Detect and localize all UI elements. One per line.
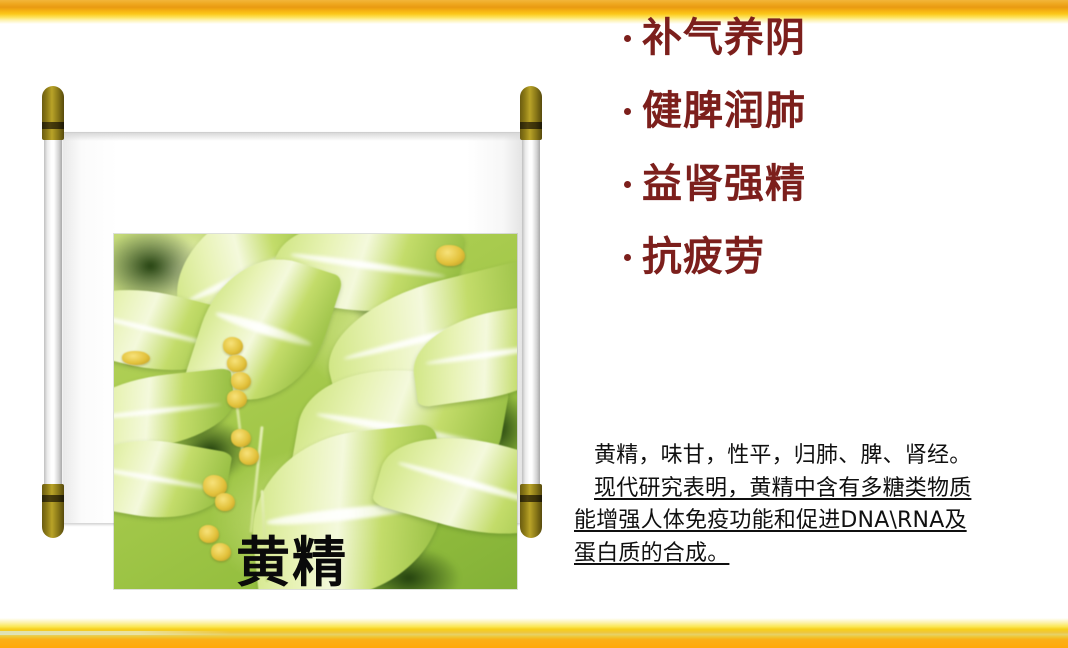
rod-band-top xyxy=(520,122,542,129)
bullet-dot-icon xyxy=(624,108,631,115)
scroll-rod-right xyxy=(516,86,546,538)
bullet-dot-icon xyxy=(624,254,631,261)
bullet-item-0: 补气养阴 xyxy=(624,18,1054,58)
rod-band-top xyxy=(42,122,64,129)
description-line-2: 能增强人体免疫功能和促进DNA\RNA及 xyxy=(574,505,1044,538)
scroll-rod-left xyxy=(38,86,68,538)
rod-cap-top xyxy=(42,86,64,140)
description-line-3: 蛋白质的合成。 xyxy=(574,538,1044,571)
bullet-label: 补气养阴 xyxy=(642,18,806,58)
bullet-label: 抗疲劳 xyxy=(642,237,765,277)
description-paragraph: 黄精，味甘，性平，归肺、脾、肾经。 现代研究表明，黄精中含有多糖类物质 能增强人… xyxy=(574,440,1044,570)
leaf-vein xyxy=(114,402,222,421)
flower-bud-3 xyxy=(231,372,251,390)
flower-bud-1 xyxy=(223,337,243,355)
flower-bud-11 xyxy=(436,245,464,266)
description-line-0: 黄精，味甘，性平，归肺、脾、肾经。 xyxy=(574,440,1044,473)
flower-bud-4 xyxy=(227,390,247,408)
rod-cap-bottom xyxy=(42,484,64,538)
rod-band-bottom xyxy=(520,495,542,502)
benefits-list: 补气养阴 健脾润肺 益肾强精 抗疲劳 xyxy=(624,18,1054,310)
flower-bud-5 xyxy=(231,429,251,447)
bullet-item-1: 健脾润肺 xyxy=(624,91,1054,131)
scroll-illustration xyxy=(24,86,560,538)
bullet-dot-icon xyxy=(624,181,631,188)
slide-root: 黄精 补气养阴 健脾润肺 益肾强精 抗疲劳 黄精，味甘，性平，归肺、脾、肾经。 … xyxy=(0,0,1068,648)
scroll-caption: 黄精 xyxy=(24,536,560,590)
rod-cap-bottom xyxy=(520,484,542,538)
leaf-vein xyxy=(425,342,517,367)
flower-bud-6 xyxy=(239,447,259,465)
bullet-item-2: 益肾强精 xyxy=(624,164,1054,204)
bullet-label: 益肾强精 xyxy=(642,164,806,204)
leaf-vein xyxy=(398,460,517,511)
description-line-1: 现代研究表明，黄精中含有多糖类物质 xyxy=(574,473,1044,506)
bullet-label: 健脾润肺 xyxy=(642,91,806,131)
leaf-vein xyxy=(114,465,215,492)
bullet-dot-icon xyxy=(624,35,631,42)
bottom-gold-bar xyxy=(0,618,1068,648)
rod-band-bottom xyxy=(42,495,64,502)
rod-shaft xyxy=(44,126,62,498)
flower-bud-8 xyxy=(215,493,235,511)
bullet-item-3: 抗疲劳 xyxy=(624,237,1054,277)
flower-bud-2 xyxy=(227,355,247,373)
rod-shaft xyxy=(522,126,540,498)
rod-cap-top xyxy=(520,86,542,140)
